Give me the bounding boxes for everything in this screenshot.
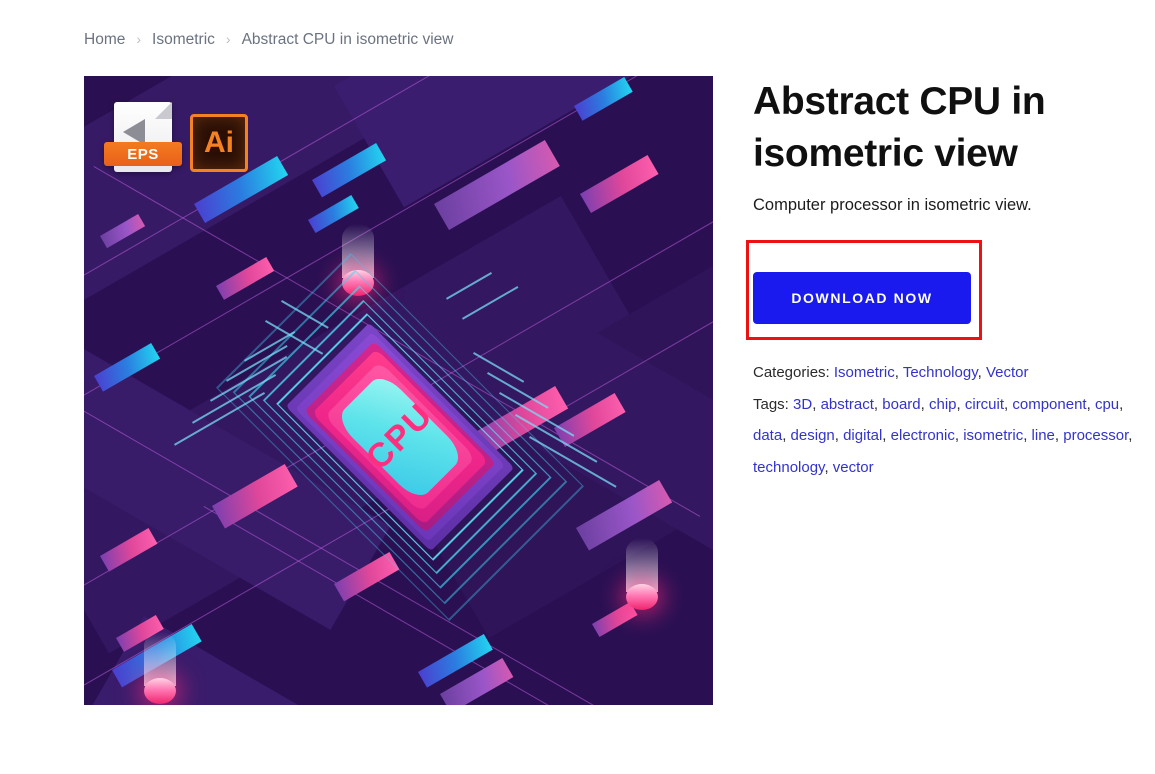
tag-link-3d[interactable]: 3D <box>793 396 812 413</box>
breadcrumb-separator-icon: › <box>226 31 231 47</box>
tag-link-abstract[interactable]: abstract <box>821 396 874 413</box>
breadcrumb-item-isometric[interactable]: Isometric <box>152 31 215 49</box>
category-link-isometric[interactable]: Isometric <box>834 364 895 381</box>
eps-badge-label: EPS <box>104 142 182 166</box>
product-meta: Categories: Isometric, Technology, Vecto… <box>753 357 1148 484</box>
image-artwork: CPU <box>84 76 713 705</box>
tag-link-technology[interactable]: technology <box>753 459 824 476</box>
adobe-illustrator-icon: Ai <box>190 114 248 172</box>
tag-link-digital[interactable]: digital <box>843 427 882 444</box>
tag-link-data[interactable]: data <box>753 427 782 444</box>
tag-link-circuit[interactable]: circuit <box>965 396 1004 413</box>
download-area: DOWNLOAD NOW <box>753 241 1148 324</box>
tags-row: Tags: 3D, abstract, board, chip, circuit… <box>753 389 1148 484</box>
categories-row: Categories: Isometric, Technology, Vecto… <box>753 357 1148 389</box>
tag-link-electronic[interactable]: electronic <box>891 427 955 444</box>
category-link-vector[interactable]: Vector <box>986 364 1029 381</box>
tag-link-processor[interactable]: processor <box>1063 427 1128 444</box>
product-details: Abstract CPU in isometric view Computer … <box>753 76 1148 484</box>
file-format-badges: EPS Ai <box>114 102 248 172</box>
tag-link-cpu[interactable]: cpu <box>1095 396 1119 413</box>
categories-label: Categories: <box>753 364 830 381</box>
product-image[interactable]: CPU <box>84 76 713 705</box>
categories-links: Isometric, Technology, Vector <box>834 364 1029 381</box>
breadcrumb: Home › Isometric › Abstract CPU in isome… <box>84 31 453 49</box>
eps-file-icon: EPS <box>114 102 172 172</box>
product-subtitle: Computer processor in isometric view. <box>753 194 1148 217</box>
tags-label: Tags: <box>753 396 789 413</box>
breadcrumb-item-current: Abstract CPU in isometric view <box>242 31 454 49</box>
product-page: Home › Isometric › Abstract CPU in isome… <box>0 0 1155 774</box>
page-title: Abstract CPU in isometric view <box>753 76 1148 180</box>
breadcrumb-separator-icon: › <box>136 31 141 47</box>
tag-link-line[interactable]: line <box>1032 427 1055 444</box>
category-link-technology[interactable]: Technology <box>903 364 978 381</box>
breadcrumb-item-home[interactable]: Home <box>84 31 125 49</box>
tag-link-design[interactable]: design <box>791 427 835 444</box>
tag-link-component[interactable]: component <box>1012 396 1086 413</box>
download-now-button[interactable]: DOWNLOAD NOW <box>753 272 971 324</box>
tag-link-board[interactable]: board <box>882 396 920 413</box>
tag-link-chip[interactable]: chip <box>929 396 957 413</box>
tag-link-isometric[interactable]: isometric <box>963 427 1023 444</box>
tag-link-vector[interactable]: vector <box>833 459 874 476</box>
tags-links: 3D, abstract, board, chip, circuit, comp… <box>753 396 1132 477</box>
cpu-chip-illustration: CPU <box>170 272 630 602</box>
